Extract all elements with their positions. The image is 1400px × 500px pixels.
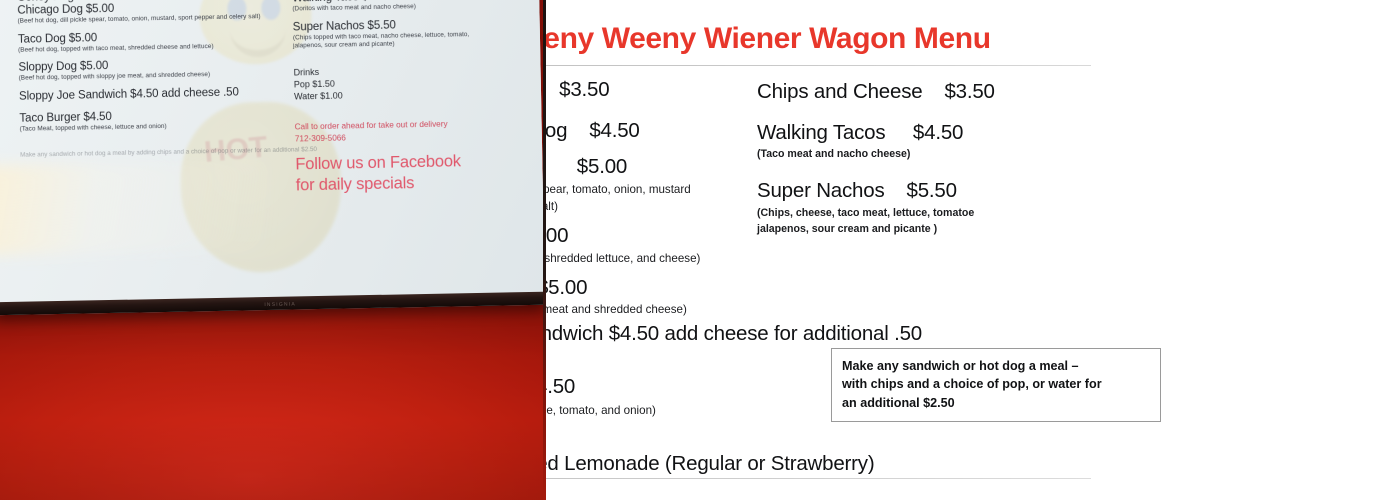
board-facebook-line-1: Follow us on Facebook — [295, 150, 485, 175]
menu-item-desc: (Beef hot dog, taco meat, shredded lettu… — [543, 251, 756, 267]
menu-item-price: $3.50 — [944, 78, 994, 106]
menu-document: Teeny Weeny Wiener Wagon Menu Beef Hot D… — [543, 0, 1091, 500]
menu-document-panel: Teeny Weeny Wiener Wagon Menu Beef Hot D… — [543, 0, 1400, 500]
menu-item-price: $5.50 — [907, 177, 957, 205]
menu-item-row: Super Nachos $5.50 — [757, 177, 1097, 205]
board-right-column: Chips and Cheese $3.50 Walking Taco $4.5… — [292, 0, 486, 197]
menu-columns: Beef Hot Dog $3.50 Chili Cheese Dog $4.5… — [543, 66, 1091, 296]
lemonade-row: Fresh Squeezed Lemonade (Regular or Stra… — [543, 450, 1091, 479]
menu-item-desc: (Beef hot dog, sloppy joe meat and shred… — [543, 302, 756, 318]
menu-right-column: Chips and Cheese $3.50 Walking Tacos $4.… — [757, 78, 1097, 244]
menu-item-name: Chips and Cheese — [757, 78, 922, 106]
board-item-desc: (Chips topped with taco meat, nacho chee… — [293, 30, 483, 51]
bottom-divider — [543, 478, 1091, 479]
menu-item-row: Chili Cheese Dog $4.50 — [543, 117, 756, 145]
wall-shadow-overlay — [0, 300, 543, 500]
menu-item-row: Beef Hot Dog $3.50 — [543, 76, 756, 104]
board-facebook-line-2: for daily specials — [296, 172, 486, 197]
menu-item-name: Super Nachos — [757, 177, 885, 205]
television-display: HOT Hot Dog $3.50 Coney Dog w/Cheese $4.… — [0, 0, 543, 315]
callout-line-1: Make any sandwich or hot dog a meal – — [842, 357, 1150, 375]
board-menu-text: Hot Dog $3.50 Coney Dog w/Cheese $4.50 C… — [0, 0, 543, 305]
callout-line-3: an additional $2.50 — [842, 394, 1150, 412]
menu-item-name: Walking Tacos — [757, 119, 885, 147]
menu-item-desc: (Beef hot dog, dill pickle spear, tomato… — [543, 182, 756, 198]
menu-item-row: Walking Tacos $4.50 — [757, 119, 1097, 147]
menu-item-price: $5.00 — [543, 222, 568, 250]
menu-item-price: $4.50 — [589, 117, 639, 145]
callout-line-2: with chips and a choice of pop, or water… — [842, 375, 1150, 393]
menu-item-row: Chicago Dog $5.00 — [543, 153, 756, 181]
menu-item-row: Sloppy Dog $5.00 — [543, 274, 756, 302]
tv-screen-surface: HOT Hot Dog $3.50 Coney Dog w/Cheese $4.… — [0, 0, 543, 305]
page-title: Teeny Weeny Wiener Wagon Menu — [543, 0, 1091, 56]
lemonade-size-row: 32oz. $5.00 — [543, 481, 1091, 499]
photo-panel-seam — [543, 0, 546, 500]
menu-item-price: $3.50 — [559, 76, 609, 104]
menu-item-row: Chips and Cheese $3.50 — [757, 78, 1097, 106]
menu-item-desc-cont: jalapenos, sour cream and picante ) — [757, 222, 1097, 237]
board-left-column: Hot Dog $3.50 Coney Dog w/Cheese $4.50 C… — [17, 0, 320, 159]
menu-item-desc: (Chips, cheese, taco meat, lettuce, toma… — [757, 206, 1097, 221]
menu-board-photograph: HOT Hot Dog $3.50 Coney Dog w/Cheese $4.… — [0, 0, 543, 500]
menu-item-price: $5.00 — [577, 153, 627, 181]
tv-brand-label: INSIGNIA — [264, 301, 296, 308]
menu-item-name: Chili Cheese Dog — [543, 117, 567, 145]
menu-item-desc-cont: sport pepper and celery salt) — [543, 199, 756, 215]
menu-item-desc: (Taco meat and nacho cheese) — [757, 147, 1097, 162]
menu-item-price: $5.00 — [543, 274, 587, 302]
menu-left-column: Beef Hot Dog $3.50 Chili Cheese Dog $4.5… — [543, 76, 756, 325]
menu-item-row: Taco Dog $5.00 — [543, 222, 756, 250]
menu-item-price: $4.50 — [913, 119, 963, 147]
screenshot-root: HOT Hot Dog $3.50 Coney Dog w/Cheese $4.… — [0, 0, 1400, 500]
meal-upgrade-callout: Make any sandwich or hot dog a meal – wi… — [831, 348, 1161, 422]
